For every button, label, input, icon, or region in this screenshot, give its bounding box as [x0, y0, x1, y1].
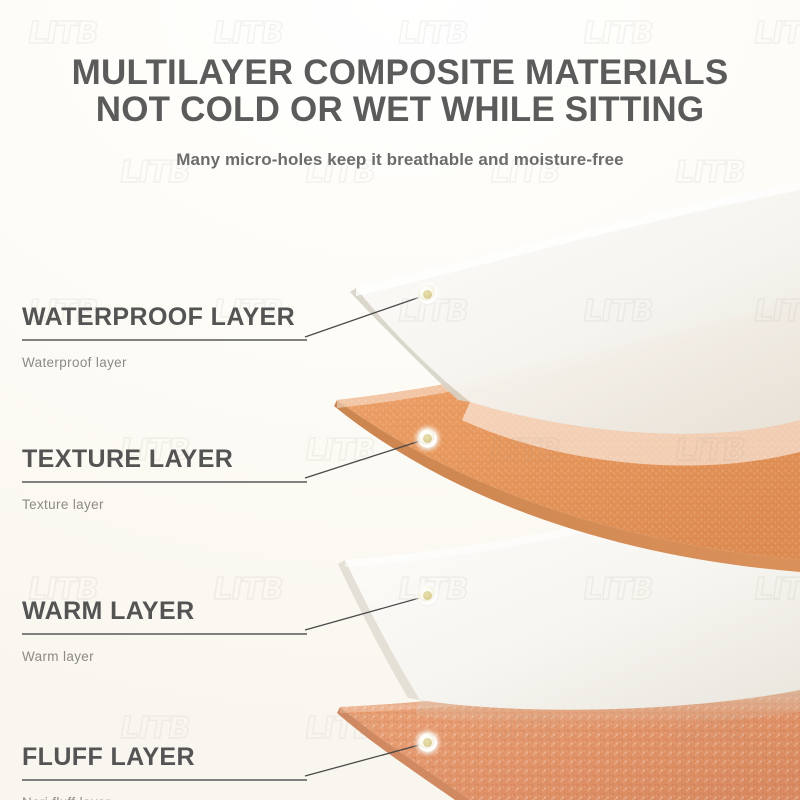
- marker-dot-waterproof[interactable]: [418, 285, 437, 304]
- callout-texture[interactable]: TEXTURE LAYER Texture layer: [22, 447, 307, 512]
- title-line-2: NOT COLD OR WET WHILE SITTING: [0, 91, 800, 128]
- callout-fluff[interactable]: FLUFF LAYER Neri fluff layer: [22, 745, 307, 800]
- callout-rule-warm: [22, 633, 307, 635]
- callout-rule-texture: [22, 481, 307, 483]
- callout-title-fluff: FLUFF LAYER: [22, 745, 307, 770]
- callout-rule-fluff: [22, 779, 307, 781]
- callout-subtitle-waterproof: Waterproof layer: [22, 355, 307, 370]
- callout-subtitle-fluff: Neri fluff layer: [22, 795, 307, 800]
- callout-title-warm: WARM LAYER: [22, 599, 307, 624]
- callout-subtitle-texture: Texture layer: [22, 497, 307, 512]
- callout-rule-waterproof: [22, 339, 307, 341]
- page-title: MULTILAYER COMPOSITE MATERIALS NOT COLD …: [0, 54, 800, 128]
- title-line-1: MULTILAYER COMPOSITE MATERIALS: [0, 54, 800, 91]
- infographic-canvas: LITB LITB LITB LITB LITB LITB LITB LITB …: [0, 0, 800, 800]
- marker-dot-warm[interactable]: [418, 586, 437, 605]
- page-subtitle: Many micro-holes keep it breathable and …: [0, 150, 800, 170]
- marker-dot-fluff[interactable]: [418, 733, 437, 752]
- callout-waterproof[interactable]: WATERPROOF LAYER Waterproof layer: [22, 305, 307, 370]
- subtitle-text: Many micro-holes keep it breathable and …: [0, 150, 800, 170]
- callout-title-texture: TEXTURE LAYER: [22, 447, 307, 472]
- callout-subtitle-warm: Warm layer: [22, 649, 307, 664]
- callout-title-waterproof: WATERPROOF LAYER: [22, 305, 307, 330]
- marker-dot-texture[interactable]: [418, 429, 437, 448]
- callout-warm[interactable]: WARM LAYER Warm layer: [22, 599, 307, 664]
